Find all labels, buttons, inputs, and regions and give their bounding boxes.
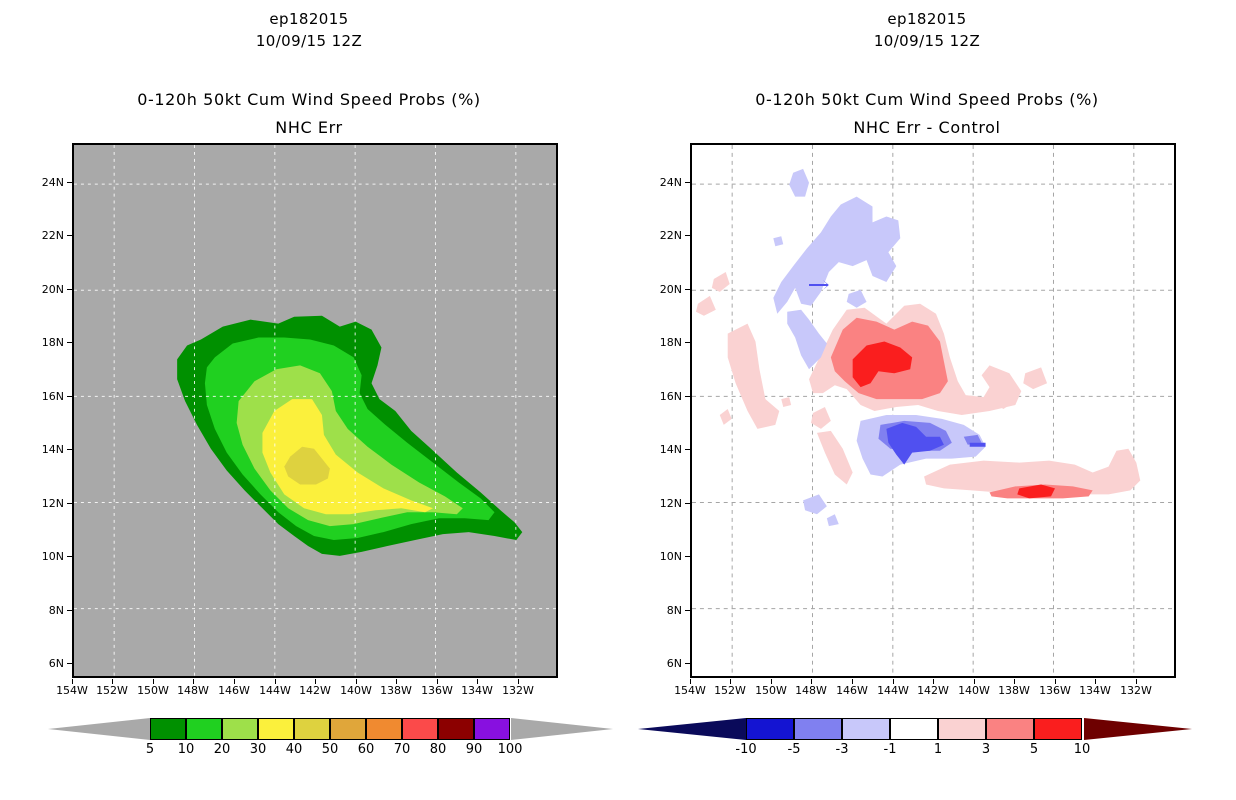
cbar-seg-50-60: [330, 718, 366, 740]
datetime-left: 10/09/15 12Z: [0, 32, 618, 50]
y-label-6n: 6N: [22, 657, 64, 670]
y-label-22n: 22N: [22, 229, 64, 242]
map-plot-nhc-err[interactable]: [72, 143, 558, 678]
cbar-tick-60: 60: [346, 742, 386, 757]
x-label-142w: 142W: [292, 684, 338, 697]
cbar-seg-neg3-neg1: [842, 718, 890, 740]
cbar-seg-1-3: [938, 718, 986, 740]
cbar-seg-30-40: [258, 718, 294, 740]
storm-id-right: ep182015: [618, 10, 1236, 28]
y-label-14n: 14N: [22, 443, 64, 456]
cbar-seg-neg1-1: [890, 718, 938, 740]
datetime-right: 10/09/15 12Z: [618, 32, 1236, 50]
cbar-tick-20: 20: [202, 742, 242, 757]
cbar-tick-90: 90: [454, 742, 494, 757]
y-label-10n: 10N: [22, 550, 64, 563]
plot-subtitle-left: NHC Err: [0, 118, 618, 137]
cbar-seg-3-5: [986, 718, 1034, 740]
panel-nhc-err-minus-control: ep182015 10/09/15 12Z 0-120h 50kt Cum Wi…: [618, 0, 1236, 800]
panel-nhc-err: ep182015 10/09/15 12Z 0-120h 50kt Cum Wi…: [0, 0, 618, 800]
plot-title-right: 0-120h 50kt Cum Wind Speed Probs (%): [618, 90, 1236, 109]
cbar-seg-40-50: [294, 718, 330, 740]
y-label-12n: 12N: [22, 497, 64, 510]
y-label-right-24n: 24N: [640, 176, 682, 189]
x-label-right-142w: 142W: [910, 684, 956, 697]
colorbar-left[interactable]: [150, 718, 510, 740]
plot-subtitle-right: NHC Err - Control: [618, 118, 1236, 137]
y-label-right-20n: 20N: [640, 283, 682, 296]
colorbar-right-under-cap: [638, 718, 748, 740]
x-label-148w: 148W: [170, 684, 216, 697]
y-label-18n: 18N: [22, 336, 64, 349]
difference-fill-layer-right: [692, 145, 1174, 676]
y-label-24n: 24N: [22, 176, 64, 189]
cbar-tick-pos3: 3: [966, 742, 1006, 757]
y-label-right-22n: 22N: [640, 229, 682, 242]
x-label-134w: 134W: [454, 684, 500, 697]
figure-root: ep182015 10/09/15 12Z 0-120h 50kt Cum Wi…: [0, 0, 1236, 800]
y-label-right-6n: 6N: [640, 657, 682, 670]
y-label-20n: 20N: [22, 283, 64, 296]
x-label-right-134w: 134W: [1072, 684, 1118, 697]
y-label-16n: 16N: [22, 390, 64, 403]
cbar-seg-80-90: [438, 718, 474, 740]
colorbar-right-over-cap: [1082, 718, 1192, 740]
x-label-132w: 132W: [495, 684, 541, 697]
map-plot-nhc-err-minus-control[interactable]: [690, 143, 1176, 678]
cbar-tick-80: 80: [418, 742, 458, 757]
cbar-seg-70-80: [402, 718, 438, 740]
colorbar-left-over-cap: [508, 718, 613, 740]
cbar-seg-20-30: [222, 718, 258, 740]
cbar-tick-neg3: -3: [822, 742, 862, 757]
y-label-right-16n: 16N: [640, 390, 682, 403]
cbar-tick-40: 40: [274, 742, 314, 757]
y-label-right-14n: 14N: [640, 443, 682, 456]
x-label-right-148w: 148W: [788, 684, 834, 697]
cbar-seg-90-100: [474, 718, 510, 740]
y-label-8n: 8N: [22, 604, 64, 617]
cbar-seg-10-20: [186, 718, 222, 740]
cbar-tick-70: 70: [382, 742, 422, 757]
x-label-152w: 152W: [89, 684, 135, 697]
colorbar-left-under-cap: [48, 718, 153, 740]
cbar-tick-100: 100: [490, 742, 530, 757]
cbar-tick-neg5: -5: [774, 742, 814, 757]
cbar-seg-60-70: [366, 718, 402, 740]
contour-fill-layer-left: [74, 145, 556, 676]
cbar-tick-pos5: 5: [1014, 742, 1054, 757]
x-label-right-132w: 132W: [1113, 684, 1159, 697]
cbar-tick-pos1: 1: [918, 742, 958, 757]
plot-title-left: 0-120h 50kt Cum Wind Speed Probs (%): [0, 90, 618, 109]
y-label-right-10n: 10N: [640, 550, 682, 563]
y-label-right-18n: 18N: [640, 336, 682, 349]
cbar-seg-neg10-neg5: [746, 718, 794, 740]
cbar-tick-10: 10: [166, 742, 206, 757]
x-label-right-146w: 146W: [829, 684, 875, 697]
x-label-right-138w: 138W: [991, 684, 1037, 697]
storm-id-left: ep182015: [0, 10, 618, 28]
cbar-tick-50: 50: [310, 742, 350, 757]
cbar-seg-5-10: [150, 718, 186, 740]
x-label-138w: 138W: [373, 684, 419, 697]
x-label-146w: 146W: [211, 684, 257, 697]
cbar-seg-5-10: [1034, 718, 1082, 740]
y-label-right-12n: 12N: [640, 497, 682, 510]
cbar-seg-neg5-neg3: [794, 718, 842, 740]
cbar-tick-neg10: -10: [726, 742, 766, 757]
colorbar-right[interactable]: [746, 718, 1082, 740]
cbar-tick-neg1: -1: [870, 742, 910, 757]
y-label-right-8n: 8N: [640, 604, 682, 617]
x-label-right-152w: 152W: [707, 684, 753, 697]
cbar-tick-5: 5: [130, 742, 170, 757]
cbar-tick-30: 30: [238, 742, 278, 757]
cbar-tick-pos10: 10: [1062, 742, 1102, 757]
